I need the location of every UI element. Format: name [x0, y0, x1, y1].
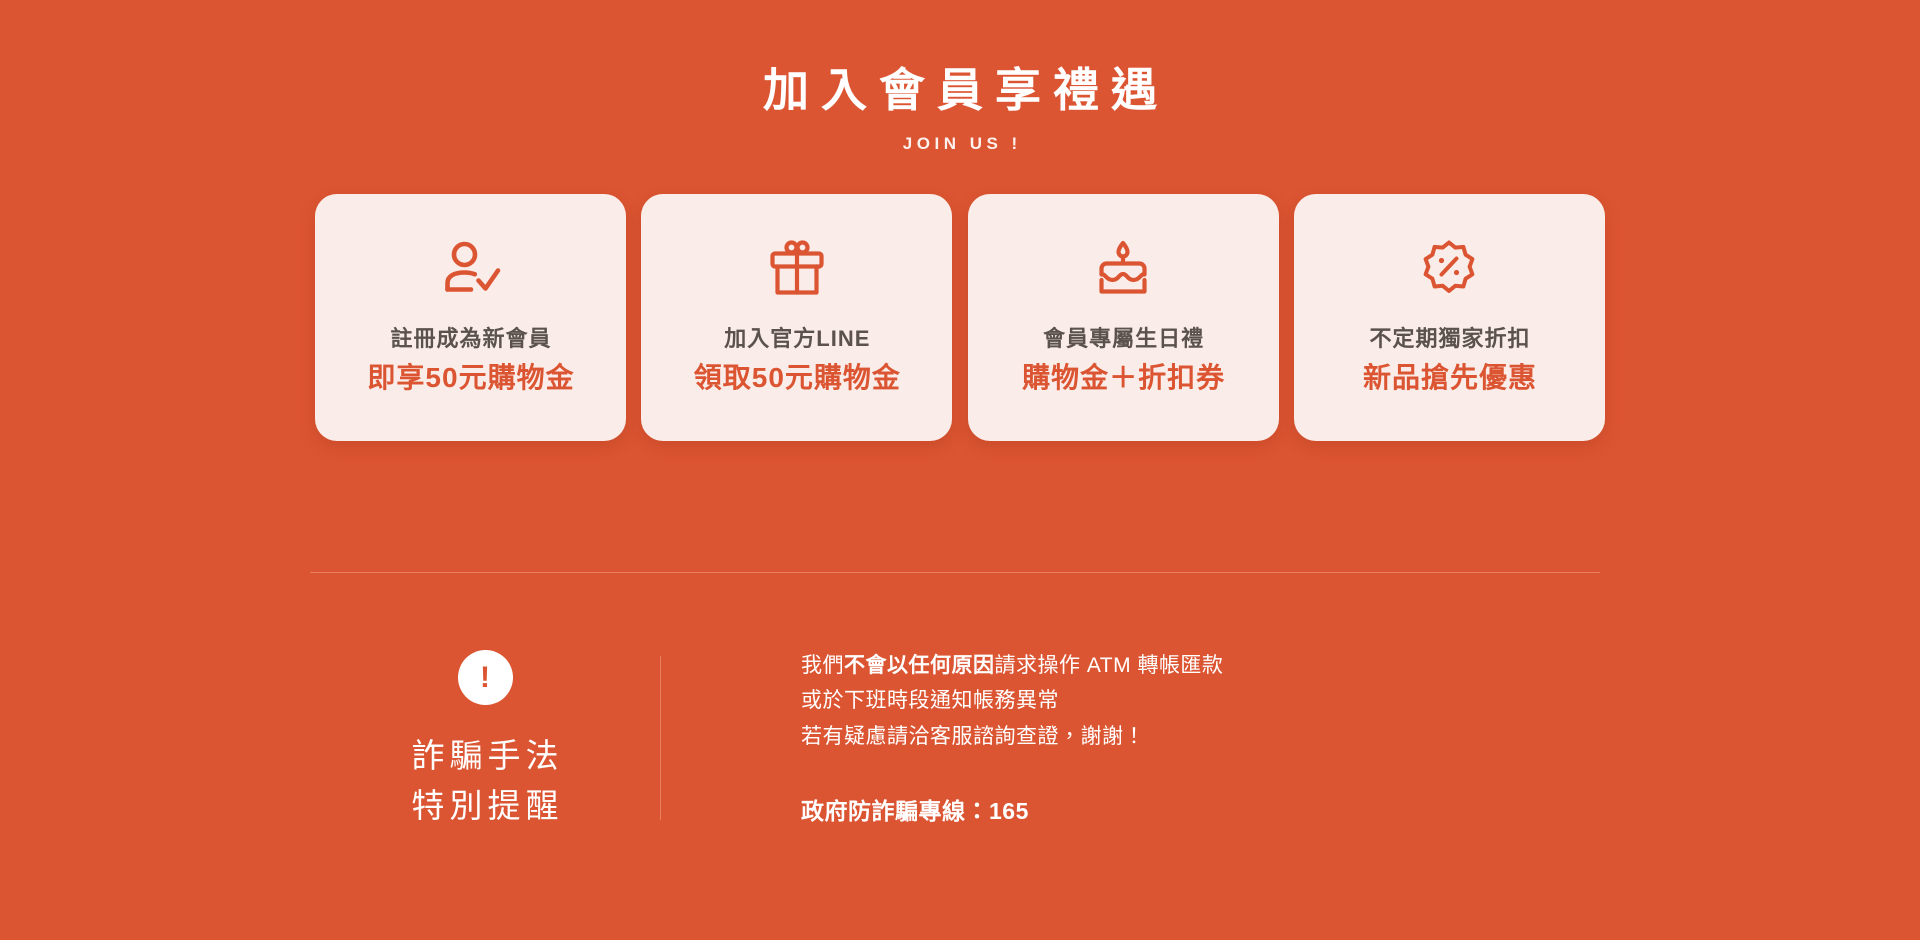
fraud-warning-line-1-emphasis: 不會以任何原因: [844, 654, 995, 677]
anti-fraud-hotline: 政府防詐騙專線：165: [801, 792, 1600, 826]
fraud-warning-line-3: 若有疑慮請洽客服諮詢查證，謝謝！: [801, 719, 1600, 754]
fraud-warning-title-line2: 特別提醒: [407, 781, 564, 831]
fraud-warning-title: 詐騙手法 特別提醒: [407, 731, 564, 830]
fraud-warning-line-1: 我們不會以任何原因請求操作 ATM 轉帳匯款: [801, 648, 1600, 683]
page-title: 加入會員享禮遇: [0, 62, 1920, 120]
exclamation-icon: !: [458, 650, 513, 705]
benefit-card-title: 註冊成為新會員: [389, 326, 551, 352]
discount-badge-icon: [1419, 238, 1479, 300]
benefit-card-birthday[interactable]: 會員專屬生日禮 購物金＋折扣券: [968, 194, 1279, 441]
benefit-card-title: 不定期獨家折扣: [1368, 326, 1530, 352]
fraud-warning-line-2: 或於下班時段通知帳務異常: [801, 683, 1600, 718]
benefit-card-register[interactable]: 註冊成為新會員 即享50元購物金: [315, 194, 626, 441]
fraud-warning-line-1-suffix: 請求操作 ATM 轉帳匯款: [995, 654, 1224, 677]
membership-benefits-page: 加入會員享禮遇 JOIN US ! 註冊成為新會員 即享50元購物金: [0, 0, 1920, 940]
fraud-warning-body: 我們不會以任何原因請求操作 ATM 轉帳匯款 或於下班時段通知帳務異常 若有疑慮…: [661, 640, 1600, 830]
benefit-card-title: 會員專屬生日禮: [1042, 326, 1204, 352]
user-check-icon: [440, 238, 502, 300]
benefit-card-subtitle: 領取50元購物金: [693, 361, 901, 395]
benefit-card-title: 加入官方LINE: [723, 326, 870, 352]
gift-box-icon: [768, 238, 826, 300]
page-subtitle: JOIN US !: [0, 134, 1920, 154]
birthday-cake-icon: [1092, 238, 1154, 300]
benefit-card-discount[interactable]: 不定期獨家折扣 新品搶先優惠: [1294, 194, 1605, 441]
fraud-warning-line-1-prefix: 我們: [801, 654, 844, 677]
benefit-card-subtitle: 新品搶先優惠: [1362, 361, 1537, 395]
benefit-card-line[interactable]: 加入官方LINE 領取50元購物金: [641, 194, 952, 441]
fraud-warning-heading: ! 詐騙手法 特別提醒: [310, 640, 660, 830]
benefit-card-list: 註冊成為新會員 即享50元購物金 加入官方LINE 領取50元購物金: [315, 194, 1605, 441]
fraud-warning-title-line1: 詐騙手法: [407, 731, 564, 781]
benefit-card-subtitle: 購物金＋折扣券: [1021, 361, 1225, 395]
section-divider: [310, 572, 1600, 573]
fraud-warning-section: ! 詐騙手法 特別提醒 我們不會以任何原因請求操作 ATM 轉帳匯款 或於下班時…: [310, 640, 1600, 830]
benefit-card-subtitle: 即享50元購物金: [366, 361, 574, 395]
header: 加入會員享禮遇 JOIN US !: [0, 0, 1920, 154]
